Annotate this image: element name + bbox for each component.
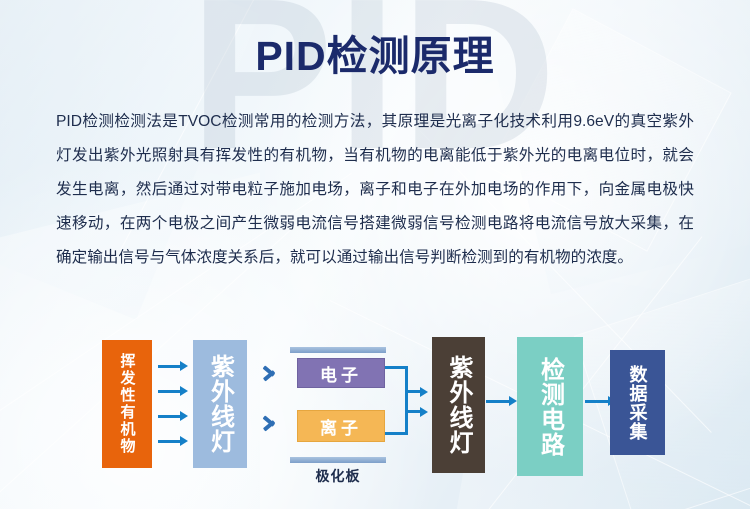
merge-arrow-shaft-1 — [408, 390, 420, 393]
flow-box-ion[interactable]: 离子 — [297, 410, 385, 442]
polarization-plate-bottom — [290, 457, 386, 463]
arrow-head — [180, 386, 188, 396]
flow-box-uv-lamp[interactable]: 紫外线灯 — [193, 340, 247, 468]
flow-box-volatile-organic-compounds[interactable]: 挥发性有机物 — [102, 340, 152, 468]
arrow-shaft — [158, 390, 180, 393]
flow-box-detection-circuit[interactable]: 检测电路 — [517, 337, 583, 476]
polarization-plate-top — [290, 347, 386, 353]
arrow-shaft — [158, 365, 180, 368]
arrow-shaft — [486, 400, 509, 403]
merge-arrow-shaft-2 — [408, 410, 420, 413]
polarization-plate-label: 极化板 — [290, 466, 386, 486]
merge-connector — [385, 366, 425, 436]
flow-box-electron[interactable]: 电子 — [297, 358, 385, 388]
chevron-right-icon-electron — [262, 359, 280, 385]
merge-line-vertical — [405, 366, 408, 435]
arrow-shaft — [158, 440, 180, 443]
page-title: PID检测原理 — [0, 0, 750, 77]
merge-arrow-head-1 — [420, 387, 428, 397]
arrow-head — [509, 396, 517, 406]
merge-arrow-head-2 — [420, 407, 428, 417]
body-paragraph: PID检测检测法是TVOC检测常用的检测方法，其原理是光离子化技术利用9.6eV… — [56, 105, 694, 275]
arrow-head — [180, 361, 188, 371]
arrow-shaft — [158, 415, 180, 418]
flow-diagram: 挥发性有机物 紫外线灯 极化板 电子 离子 — [0, 326, 750, 509]
flow-box-data-acquisition[interactable]: 数据采集 — [610, 350, 665, 455]
arrow-head — [180, 436, 188, 446]
arrow-shaft — [585, 400, 608, 403]
arrow-head — [180, 411, 188, 421]
chevron-right-icon-ion — [262, 409, 280, 435]
flow-box-uv-lamp-electrode[interactable]: 紫外线灯 — [432, 337, 485, 473]
